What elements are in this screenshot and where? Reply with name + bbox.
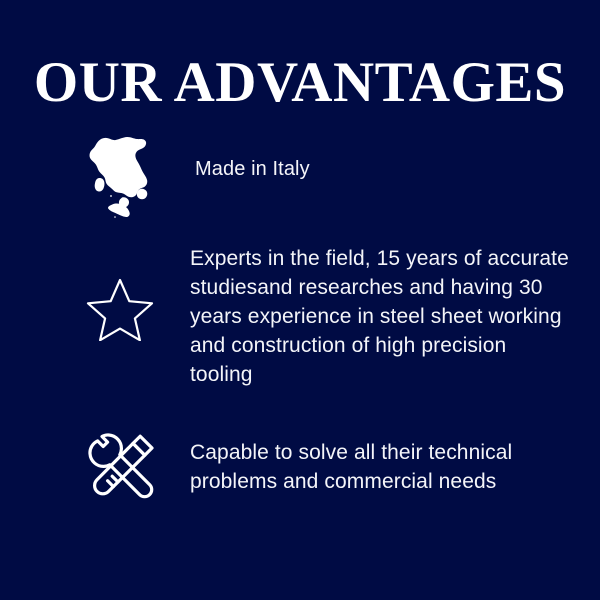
advantage-line: Capable to solve all their technical bbox=[190, 438, 550, 467]
advantage-text: Made in Italy bbox=[174, 134, 586, 182]
advantage-text: Experts in the field, 15 years of accura… bbox=[174, 244, 580, 389]
advantage-item-made-in-italy: Made in Italy bbox=[66, 134, 586, 220]
page-title: OUR ADVANTAGES bbox=[0, 52, 600, 114]
advantage-line: Experts in the field, 15 years of accura… bbox=[190, 244, 580, 273]
advantage-item-capable: Capable to solve all their technical pro… bbox=[66, 430, 586, 516]
advantage-line: and construction of high precision bbox=[190, 331, 580, 360]
advantage-line: studiesand researches and having 30 bbox=[190, 273, 580, 302]
star-outline-icon bbox=[86, 277, 154, 341]
icon-cell bbox=[66, 430, 174, 516]
icon-cell bbox=[66, 244, 174, 374]
advantage-text: Capable to solve all their technical pro… bbox=[174, 430, 550, 496]
advantage-line: tooling bbox=[190, 360, 580, 389]
italy-map-icon bbox=[82, 134, 158, 218]
advantage-line: problems and commercial needs bbox=[190, 467, 550, 496]
advantage-line: years experience in steel sheet working bbox=[190, 302, 580, 331]
advantage-line: Made in Italy bbox=[195, 156, 586, 182]
icon-cell bbox=[66, 134, 174, 220]
wrench-screwdriver-icon bbox=[82, 430, 158, 508]
advantages-poster: OUR ADVANTAGES bbox=[0, 0, 600, 600]
advantage-item-experts: Experts in the field, 15 years of accura… bbox=[66, 244, 586, 389]
